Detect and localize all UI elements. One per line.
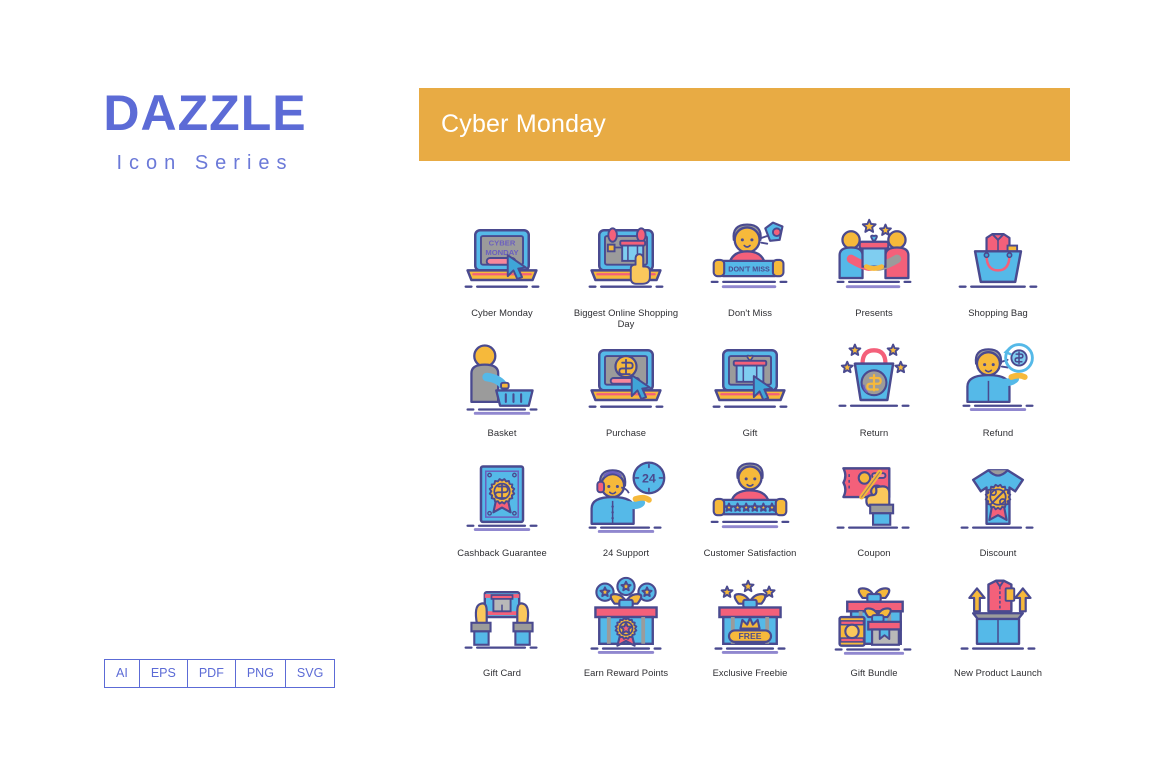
icon-cell-refund[interactable]: Refund — [936, 335, 1060, 455]
gift-box-coins-icon — [578, 575, 674, 661]
person-basket-icon — [454, 335, 550, 421]
support-agent-clock-icon: 24 — [578, 455, 674, 541]
icon-label: Discount — [938, 547, 1058, 558]
icon-label: Cashback Guarantee — [442, 547, 562, 558]
icon-label: Gift — [690, 427, 810, 438]
icon-label: Presents — [814, 307, 934, 318]
icon-label: Shopping Bag — [938, 307, 1058, 318]
person-coin-refresh-icon — [950, 335, 1046, 421]
person-banner-icon: DON'T MISS — [702, 215, 798, 301]
icon-cell-shopping-bag[interactable]: Shopping Bag — [936, 215, 1060, 335]
icon-cell-cashback-guarantee[interactable]: Cashback Guarantee — [440, 455, 564, 575]
icon-label: Refund — [938, 427, 1058, 438]
icon-label: Customer Satisfaction — [690, 547, 810, 558]
icon-grid: CYBER MONDAY Cyber Monday Biggest Online… — [440, 215, 1060, 695]
icon-cell-new-product-launch[interactable]: New Product Launch — [936, 575, 1060, 695]
icon-label: Earn Reward Points — [566, 667, 686, 678]
icon-label: Coupon — [814, 547, 934, 558]
brand-title: DAZZLE — [0, 88, 410, 138]
svg-text:FREE: FREE — [739, 631, 762, 641]
icon-sheet-page: DAZZLE Icon Series AI EPS PDF PNG SVG Cy… — [0, 0, 1170, 780]
icon-label: Gift Bundle — [814, 667, 934, 678]
laptop-shop-cursor-icon — [578, 215, 674, 301]
brand-subtitle: Icon Series — [0, 152, 410, 175]
gift-bundle-jar-icon — [826, 575, 922, 661]
icon-cell-24-support[interactable]: 24 24 Support — [564, 455, 688, 575]
icon-cell-biggest-online-shopping-day[interactable]: Biggest Online Shopping Day — [564, 215, 688, 335]
icon-label: Basket — [442, 427, 562, 438]
icon-label: Cyber Monday — [442, 307, 562, 318]
icon-cell-gift[interactable]: Gift — [688, 335, 812, 455]
open-box-shirt-arrows-icon — [950, 575, 1046, 661]
bag-coin-stars-icon — [826, 335, 922, 421]
icon-label: Purchase — [566, 427, 686, 438]
certificate-badge-icon — [454, 455, 550, 541]
icon-cell-discount[interactable]: Discount — [936, 455, 1060, 575]
icon-label: Biggest Online Shopping Day — [566, 307, 686, 330]
icon-cell-earn-reward-points[interactable]: Earn Reward Points — [564, 575, 688, 695]
icon-cell-customer-satisfaction[interactable]: Customer Satisfaction — [688, 455, 812, 575]
icon-cell-dont-miss[interactable]: DON'T MISS Don't Miss — [688, 215, 812, 335]
icon-label: New Product Launch — [938, 667, 1058, 678]
icon-cell-cyber-monday[interactable]: CYBER MONDAY Cyber Monday — [440, 215, 564, 335]
icon-cell-exclusive-freebie[interactable]: FREE Exclusive Freebie — [688, 575, 812, 695]
format-chip-ai[interactable]: AI — [104, 659, 139, 688]
icon-label: Return — [814, 427, 934, 438]
format-chip-eps[interactable]: EPS — [139, 659, 187, 688]
icon-cell-return[interactable]: Return — [812, 335, 936, 455]
svg-text:DON'T MISS: DON'T MISS — [728, 265, 770, 273]
icon-label: 24 Support — [566, 547, 686, 558]
laptop-coin-cursor-icon — [578, 335, 674, 421]
category-banner: Cyber Monday — [419, 88, 1070, 161]
hands-gift-card-icon — [454, 575, 550, 661]
svg-text:CYBER: CYBER — [489, 239, 516, 248]
icon-cell-purchase[interactable]: Purchase — [564, 335, 688, 455]
icon-cell-basket[interactable]: Basket — [440, 335, 564, 455]
format-chip-group: AI EPS PDF PNG SVG — [104, 659, 335, 688]
icon-label: Gift Card — [442, 667, 562, 678]
brand-block: DAZZLE Icon Series — [0, 88, 410, 175]
category-title: Cyber Monday — [441, 110, 606, 139]
icon-cell-presents[interactable]: Presents — [812, 215, 936, 335]
shopping-bag-shirt-icon — [950, 215, 1046, 301]
gift-box-free-icon: FREE — [702, 575, 798, 661]
laptop-gift-cursor-icon — [702, 335, 798, 421]
icon-label: Don't Miss — [690, 307, 810, 318]
svg-text:24: 24 — [642, 472, 656, 486]
two-people-gift-icon — [826, 215, 922, 301]
icon-cell-gift-bundle[interactable]: Gift Bundle — [812, 575, 936, 695]
tshirt-percent-badge-icon — [950, 455, 1046, 541]
person-stars-board-icon — [702, 455, 798, 541]
icon-cell-gift-card[interactable]: Gift Card — [440, 575, 564, 695]
icon-label: Exclusive Freebie — [690, 667, 810, 678]
svg-text:MONDAY: MONDAY — [485, 248, 518, 257]
laptop-cyber-monday-icon: CYBER MONDAY — [454, 215, 550, 301]
format-chip-png[interactable]: PNG — [235, 659, 285, 688]
icon-cell-coupon[interactable]: Coupon — [812, 455, 936, 575]
format-chip-svg[interactable]: SVG — [285, 659, 335, 688]
hand-percent-coupon-icon — [826, 455, 922, 541]
format-chip-pdf[interactable]: PDF — [187, 659, 235, 688]
